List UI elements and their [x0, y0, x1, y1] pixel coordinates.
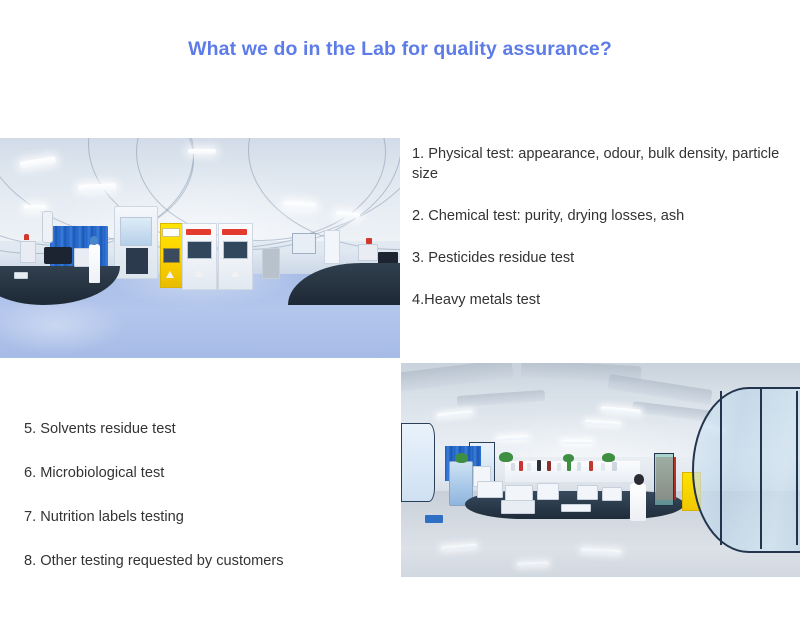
reagent-bottle [612, 462, 617, 471]
cabinet-window [187, 241, 212, 258]
glass-partition-mullion [720, 391, 722, 545]
list-item: 6. Microbiological test [24, 463, 400, 483]
lab-technician [630, 483, 646, 522]
test-list-top-right: 1. Physical test: appearance, odour, bul… [412, 144, 800, 332]
lab-technician-head [634, 474, 644, 485]
grey-equipment-cabinet [262, 248, 280, 279]
left-bench-monitor [44, 247, 72, 265]
bench-instrument [477, 481, 503, 498]
page-title: What we do in the Lab for quality assura… [0, 38, 800, 61]
reagent-bottle [511, 463, 515, 472]
reagent-bottle [589, 461, 594, 471]
emergency-wall-box [366, 238, 372, 244]
list-item: 5. Solvents residue test [24, 419, 400, 439]
reagent-bottle [537, 460, 542, 471]
list-item: 1. Physical test: appearance, odour, bul… [412, 144, 800, 184]
list-item: 4.Heavy metals test [412, 290, 800, 310]
reagent-bottle [577, 462, 581, 471]
potted-plant [602, 453, 615, 462]
bench-analyzer [501, 500, 535, 514]
ceiling-service-drop [42, 211, 53, 244]
hazard-triangle-icon [231, 270, 239, 277]
reagent-bottle [527, 463, 531, 472]
glass-door [654, 453, 674, 506]
red-indicator [24, 234, 29, 241]
curved-glass-partition [692, 387, 800, 554]
bench-instrument [602, 487, 622, 501]
reagent-bottle [519, 461, 523, 471]
lab-window [401, 423, 435, 502]
bench-instrument [577, 485, 599, 500]
list-item: 2. Chemical test: purity, drying losses,… [412, 206, 800, 226]
safety-cabinet-window [163, 248, 179, 263]
hazard-triangle-icon [195, 270, 203, 277]
wall-notice-board [292, 233, 316, 255]
lab-door [324, 230, 340, 264]
ceiling-light-tube [561, 440, 593, 444]
reagent-bottle [567, 461, 572, 471]
list-item: 7. Nutrition labels testing [24, 507, 400, 527]
list-item: 3. Pesticides residue test [412, 248, 800, 268]
potted-plant [563, 454, 574, 462]
panorama-scene-1 [0, 138, 400, 358]
cabinet-warning-strip [186, 229, 211, 234]
glass-partition-mullion [796, 391, 798, 545]
glass-partition-mullion [760, 387, 762, 550]
lab-technician [89, 244, 99, 284]
cabinet-warning-strip [222, 229, 247, 234]
blue-storage-bin [425, 515, 443, 524]
hazard-triangle-icon [166, 271, 174, 278]
left-bench-instrument [20, 241, 36, 263]
reagent-bottle [547, 461, 552, 471]
lab-technician-cap [90, 236, 98, 245]
fume-hood-sash [120, 217, 152, 245]
lab-panorama-instrument-room-photo [0, 138, 400, 358]
safety-cabinet-label [162, 228, 180, 237]
test-list-bottom-left: 5. Solvents residue test 6. Microbiologi… [24, 419, 400, 595]
reagent-bottle [601, 463, 605, 472]
lab-panorama-sample-prep-room-photo [401, 363, 800, 577]
reagent-shelf [505, 461, 641, 481]
panorama-scene-2 [401, 363, 800, 577]
potted-plant [455, 453, 469, 463]
reagent-bottle [557, 463, 561, 472]
potted-plant [499, 452, 513, 462]
bench-tray [561, 504, 591, 512]
cabinet-window [223, 241, 248, 258]
fume-hood-interior [126, 248, 148, 274]
ceiling-light-panel [188, 149, 216, 154]
ceiling-light-panel [284, 201, 316, 209]
left-bench-item [14, 272, 28, 279]
ceiling-light-panel [24, 205, 46, 211]
bench-instrument [537, 483, 559, 500]
list-item: 8. Other testing requested by customers [24, 551, 400, 571]
right-bench-instrument [358, 244, 378, 261]
